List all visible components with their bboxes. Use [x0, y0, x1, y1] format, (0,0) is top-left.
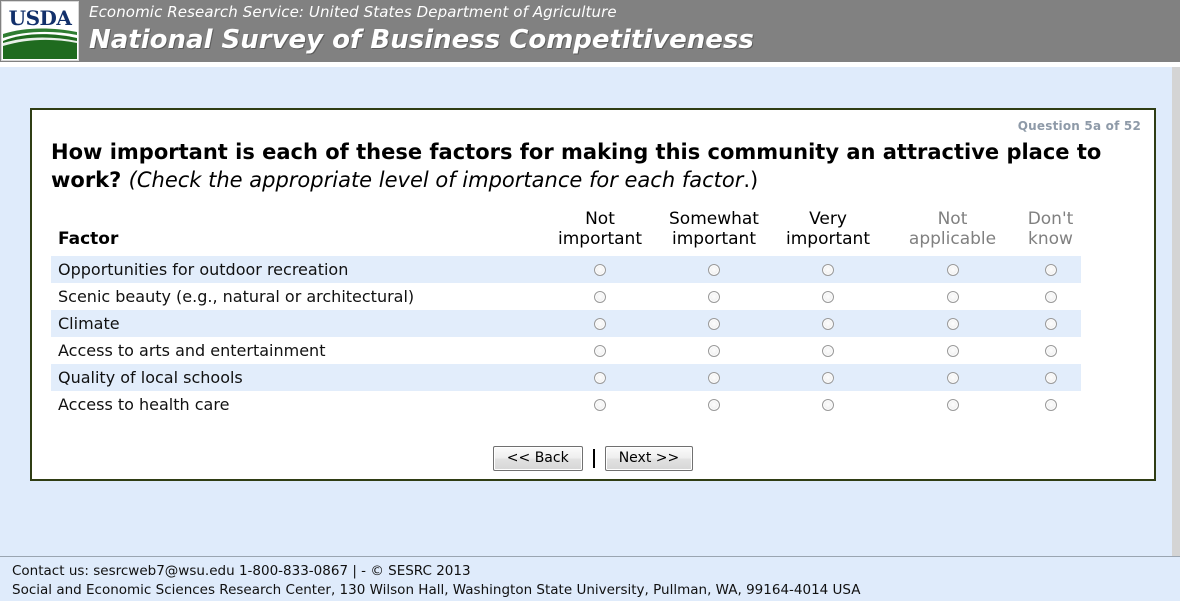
radio-cell-not-applicable[interactable] [885, 283, 1020, 310]
table-row: Quality of local schools [51, 364, 1081, 391]
radio-dont-know[interactable] [1045, 318, 1057, 330]
question-note-close: .) [743, 168, 758, 192]
question-counter: Question 5a of 52 [1018, 119, 1141, 133]
radio-cell-very-important[interactable] [771, 364, 885, 391]
radio-cell-somewhat-important[interactable] [657, 364, 771, 391]
radio-cell-dont-know[interactable] [1020, 364, 1081, 391]
radio-cell-somewhat-important[interactable] [657, 391, 771, 418]
column-header-line1: Somewhat [669, 209, 759, 229]
column-header-line2: important [672, 229, 756, 249]
radio-not-important[interactable] [594, 291, 606, 303]
column-header-line2: important [558, 229, 642, 249]
column-header-not-important: Not important [543, 209, 657, 256]
radio-cell-somewhat-important[interactable] [657, 256, 771, 283]
column-header-line2: important [786, 229, 870, 249]
radio-not-applicable[interactable] [947, 345, 959, 357]
factor-label: Quality of local schools [51, 364, 543, 391]
column-header-somewhat-important: Somewhat important [657, 209, 771, 256]
radio-cell-dont-know[interactable] [1020, 310, 1081, 337]
radio-cell-dont-know[interactable] [1020, 391, 1081, 418]
radio-cell-not-important[interactable] [543, 283, 657, 310]
matrix-body: Opportunities for outdoor recreation Sce… [51, 256, 1081, 418]
radio-cell-somewhat-important[interactable] [657, 283, 771, 310]
survey-panel: Question 5a of 52 How important is each … [30, 108, 1156, 481]
radio-cell-not-applicable[interactable] [885, 391, 1020, 418]
table-row: Opportunities for outdoor recreation [51, 256, 1081, 283]
survey-title: National Survey of Business Competitiven… [89, 23, 754, 57]
site-header: USDA Economic Research Service: United S… [0, 0, 1180, 62]
radio-very-important[interactable] [822, 264, 834, 276]
column-header-line2: applicable [909, 229, 996, 249]
header-text-block: Economic Research Service: United States… [79, 0, 754, 62]
column-header-very-important: Very important [771, 209, 885, 256]
svg-text:USDA: USDA [9, 6, 73, 30]
footer-address-line: Social and Economic Sciences Research Ce… [12, 581, 1180, 600]
radio-not-important[interactable] [594, 372, 606, 384]
radio-not-important[interactable] [594, 264, 606, 276]
footer-contact-line: Contact us: sesrcweb7@wsu.edu 1-800-833-… [12, 562, 1180, 581]
column-header-line1: Very [809, 209, 847, 229]
factor-label: Access to arts and entertainment [51, 337, 543, 364]
radio-somewhat-important[interactable] [708, 399, 720, 411]
column-header-line1: Don't [1028, 209, 1074, 229]
radio-very-important[interactable] [822, 318, 834, 330]
radio-dont-know[interactable] [1045, 345, 1057, 357]
radio-cell-very-important[interactable] [771, 391, 885, 418]
radio-very-important[interactable] [822, 372, 834, 384]
radio-cell-not-important[interactable] [543, 364, 657, 391]
radio-somewhat-important[interactable] [708, 345, 720, 357]
radio-cell-dont-know[interactable] [1020, 256, 1081, 283]
question-note: (Check the appropriate level of importan… [129, 168, 744, 192]
next-button[interactable]: Next >> [605, 446, 694, 471]
radio-cell-very-important[interactable] [771, 256, 885, 283]
radio-somewhat-important[interactable] [708, 291, 720, 303]
radio-cell-not-applicable[interactable] [885, 364, 1020, 391]
radio-cell-very-important[interactable] [771, 337, 885, 364]
radio-not-applicable[interactable] [947, 264, 959, 276]
nav-separator [593, 449, 595, 468]
radio-very-important[interactable] [822, 345, 834, 357]
agency-line: Economic Research Service: United States… [89, 2, 754, 22]
radio-somewhat-important[interactable] [708, 264, 720, 276]
radio-cell-not-applicable[interactable] [885, 256, 1020, 283]
radio-cell-not-important[interactable] [543, 256, 657, 283]
column-header-line1: Not [585, 209, 615, 229]
radio-dont-know[interactable] [1045, 264, 1057, 276]
radio-cell-not-applicable[interactable] [885, 337, 1020, 364]
radio-not-applicable[interactable] [947, 318, 959, 330]
radio-cell-not-applicable[interactable] [885, 310, 1020, 337]
page-scrollbar-gutter[interactable] [1172, 67, 1180, 556]
radio-cell-very-important[interactable] [771, 310, 885, 337]
importance-matrix: Factor Not important Somewhat important … [51, 209, 1081, 418]
radio-cell-not-important[interactable] [543, 337, 657, 364]
radio-cell-somewhat-important[interactable] [657, 337, 771, 364]
back-button[interactable]: << Back [493, 446, 583, 471]
question-text: How important is each of these factors f… [51, 138, 1111, 194]
radio-dont-know[interactable] [1045, 399, 1057, 411]
site-footer: Contact us: sesrcweb7@wsu.edu 1-800-833-… [0, 556, 1180, 601]
matrix-header-row: Factor Not important Somewhat important … [51, 209, 1081, 256]
radio-not-important[interactable] [594, 318, 606, 330]
table-row: Access to health care [51, 391, 1081, 418]
table-row: Climate [51, 310, 1081, 337]
radio-not-applicable[interactable] [947, 291, 959, 303]
column-header-not-applicable: Not applicable [885, 209, 1020, 256]
radio-cell-very-important[interactable] [771, 283, 885, 310]
radio-very-important[interactable] [822, 291, 834, 303]
page-body: Question 5a of 52 How important is each … [0, 67, 1180, 556]
radio-cell-not-important[interactable] [543, 310, 657, 337]
table-row: Scenic beauty (e.g., natural or architec… [51, 283, 1081, 310]
radio-not-applicable[interactable] [947, 372, 959, 384]
column-header-dont-know: Don't know [1020, 209, 1081, 256]
column-header-factor: Factor [51, 209, 543, 256]
factor-label: Access to health care [51, 391, 543, 418]
factor-label: Scenic beauty (e.g., natural or architec… [51, 283, 543, 310]
usda-logo: USDA [1, 1, 79, 61]
radio-very-important[interactable] [822, 399, 834, 411]
radio-cell-dont-know[interactable] [1020, 337, 1081, 364]
radio-cell-dont-know[interactable] [1020, 283, 1081, 310]
usda-logo-icon: USDA [2, 2, 78, 60]
radio-not-applicable[interactable] [947, 399, 959, 411]
radio-not-important[interactable] [594, 399, 606, 411]
radio-cell-somewhat-important[interactable] [657, 310, 771, 337]
factor-label: Climate [51, 310, 543, 337]
factor-label: Opportunities for outdoor recreation [51, 256, 543, 283]
column-header-line1: Not [938, 209, 968, 229]
radio-somewhat-important[interactable] [708, 372, 720, 384]
radio-dont-know[interactable] [1045, 372, 1057, 384]
navigation-bar: << Back Next >> [32, 446, 1154, 471]
radio-somewhat-important[interactable] [708, 318, 720, 330]
table-row: Access to arts and entertainment [51, 337, 1081, 364]
radio-cell-not-important[interactable] [543, 391, 657, 418]
radio-dont-know[interactable] [1045, 291, 1057, 303]
column-header-line2: know [1028, 229, 1073, 249]
radio-not-important[interactable] [594, 345, 606, 357]
